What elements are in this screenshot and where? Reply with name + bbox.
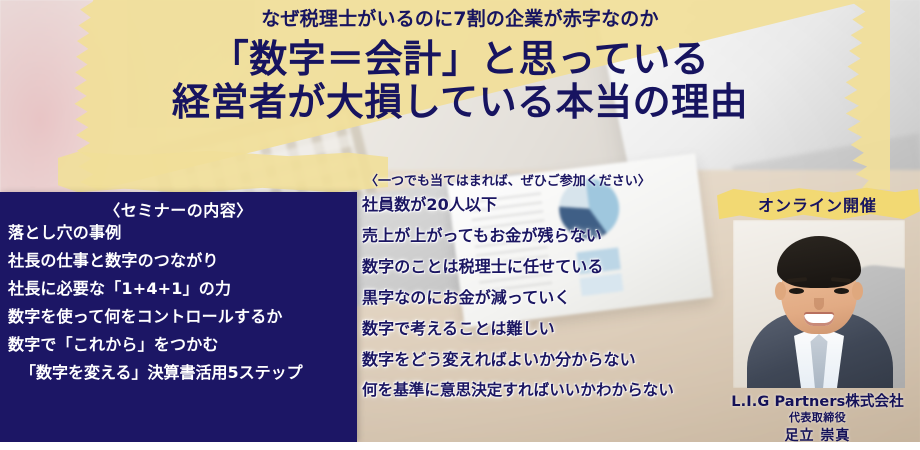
list-item: 社長の仕事と数字のつながり — [6, 253, 357, 269]
bottom-white-strip — [0, 442, 920, 450]
list-item: 落とし穴の事例 — [6, 225, 357, 241]
list-item: 数字をどう変えればよいか分からない — [362, 352, 747, 368]
list-item: 「数字を変える」決算書活用5ステップ — [6, 365, 357, 381]
seminar-contents-panel: 〈セミナーの内容〉 落とし穴の事例 社長の仕事と数字のつながり 社長に必要な「1… — [0, 192, 357, 442]
hero-yellow-brush-tail — [58, 150, 388, 194]
speaker-company-name: L.I.G Partners株式会社 — [715, 390, 920, 411]
list-item: 数字で考えることは難しい — [362, 321, 747, 337]
seminar-contents-list: 落とし穴の事例 社長の仕事と数字のつながり 社長に必要な「1+4+1」の力 数字… — [0, 223, 357, 381]
list-item: 社長に必要な「1+4+1」の力 — [6, 281, 357, 297]
checklist-items: 社員数が20人以下 売上が上がってもお金が残らない 数字のことは税理士に任せてい… — [357, 188, 747, 399]
portrait-smile-mouth — [804, 314, 834, 326]
hero-headline-block: なぜ税理士がいるのに7割の企業が赤字なのか 「数字＝会計」と思っている 経営者が… — [0, 0, 920, 124]
list-item: 黒字なのにお金が減っていく — [362, 290, 747, 306]
list-item: 売上が上がってもお金が残らない — [362, 228, 747, 244]
checklist-lead-text: 〈一つでも当てはまれば、ぜひご参加ください〉 — [357, 172, 747, 188]
speaker-role-title: 代表取締役 — [715, 409, 920, 425]
portrait-eye-left — [789, 288, 804, 294]
list-item: 社員数が20人以下 — [362, 197, 747, 213]
list-item: 数字を使って何をコントロールするか — [6, 309, 357, 325]
qualification-checklist: 〈一つでも当てはまれば、ぜひご参加ください〉 社員数が20人以下 売上が上がって… — [357, 172, 747, 450]
speaker-portrait-photo — [733, 220, 905, 388]
hero-kicker: なぜ税理士がいるのに7割の企業が赤字なのか — [0, 0, 920, 29]
seminar-banner: なぜ税理士がいるのに7割の企業が赤字なのか 「数字＝会計」と思っている 経営者が… — [0, 0, 920, 450]
seminar-contents-title: 〈セミナーの内容〉 — [0, 192, 357, 223]
list-item: 数字のことは税理士に任せている — [362, 259, 747, 275]
hero-line-1: 「数字＝会計」と思っている — [0, 38, 920, 81]
portrait-eye-right — [834, 288, 849, 294]
list-item: 数字で「これから」をつかむ — [6, 337, 357, 353]
list-item: 何を基準に意思決定すればいいかわからない — [362, 383, 747, 399]
online-event-badge: オンライン開催 — [715, 186, 920, 222]
portrait-ear-left — [775, 282, 786, 300]
online-event-badge-label: オンライン開催 — [715, 186, 920, 222]
speaker-column: オンライン開催 L.I.G Partners株式会社 代表取締役 足立 崇真 — [715, 178, 920, 450]
portrait-ear-right — [852, 282, 863, 300]
hero-line-2: 経営者が大損している本当の理由 — [0, 81, 920, 124]
portrait-nose — [814, 298, 824, 310]
